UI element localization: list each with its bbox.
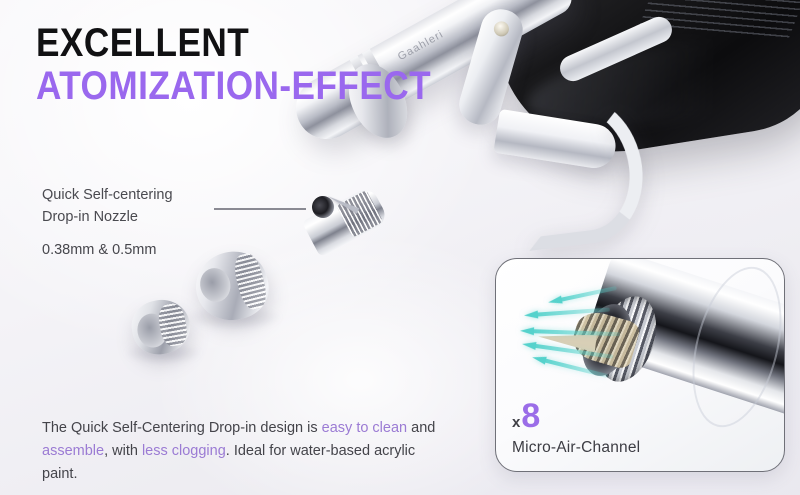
airbrush-rear-stem [556,13,676,86]
nozzle-core [308,192,338,222]
trigger-blade [493,109,618,171]
nozzle-cap-shadow [186,304,282,330]
compressor-case-image [487,0,800,169]
nozzle-callout: Quick Self-centering Drop-in Nozzle 0.38… [42,184,173,261]
cap-bore [197,265,234,305]
cap-bore [135,311,170,350]
channel-count: x 8 [512,399,640,433]
callout-title-line-1: Quick Self-centering [42,184,173,206]
multiplier-symbol: x [512,415,520,430]
description-segment: and [407,420,435,436]
description-segment: , with [104,443,142,459]
micro-air-channel-inset-card: x 8 Micro-Air-Channel [495,258,785,472]
cap-knurling [156,302,189,348]
vent-grille [639,0,800,40]
product-feature-banner: Gaahleri EXCELLENT ATOMIZATION-EFFECT Qu… [0,0,800,495]
headline-line-1: EXCELLENT [36,24,431,63]
inset-caption: Micro-Air-Channel [512,439,640,457]
nozzle-cap-large [189,244,275,327]
airbrush-nozzle-housing [302,185,390,257]
highlight-assemble: assemble [42,443,104,459]
channel-count-number: 8 [521,399,540,433]
nozzle-cap-small [128,295,194,358]
nozzle-threads [336,190,383,238]
cap-knurling [231,251,270,312]
trigger-pin [492,20,511,39]
airflow-arrow [547,296,562,307]
callout-leader-line [214,208,306,210]
airflow-arrow [531,353,547,364]
callout-sizes: 0.38mm & 0.5mm [42,239,173,261]
inset-label: x 8 Micro-Air-Channel [512,399,640,457]
highlight-easy-to-clean: easy to clean [322,420,407,436]
headline: EXCELLENT ATOMIZATION-EFFECT [36,24,485,106]
airflow-arrow [522,340,537,350]
case-highlight [521,20,800,143]
trigger-hook-guard [511,89,650,251]
highlight-less-clogging: less clogging [142,443,226,459]
description-paragraph: The Quick Self-Centering Drop-in design … [42,417,442,487]
airflow-arrow [524,311,539,320]
description-segment: The Quick Self-Centering Drop-in design … [42,420,322,436]
airflow-arrow [520,327,534,335]
headline-line-2: ATOMIZATION-EFFECT [36,67,431,106]
nozzle-cap-shadow [124,342,202,364]
callout-title-line-2: Drop-in Nozzle [42,206,173,228]
